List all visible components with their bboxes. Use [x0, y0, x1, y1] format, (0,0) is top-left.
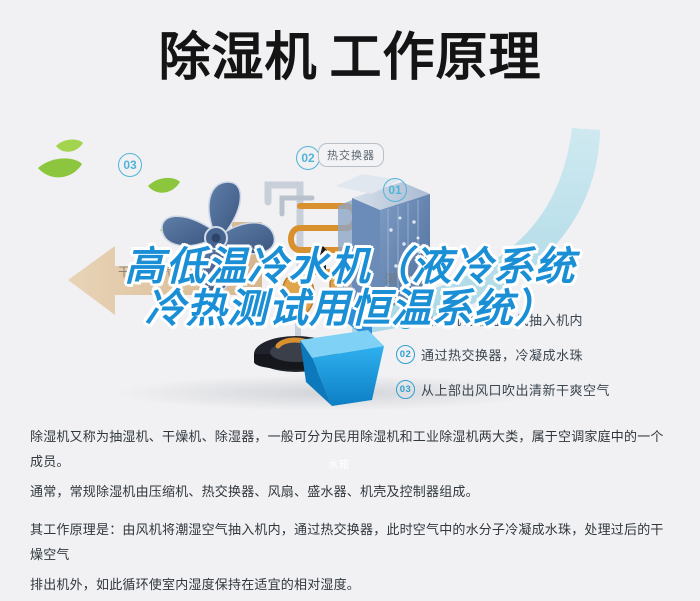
legend-text: 由风机将潮湿空气抽入机内 — [421, 310, 583, 329]
legend-text: 通过热交换器，冷凝成水珠 — [421, 345, 583, 364]
compressor-body — [282, 272, 314, 316]
leaf-icon — [56, 140, 83, 152]
dry-air-label: 干燥空气 — [118, 263, 174, 280]
body-copy: 除湿机又称为抽湿机、干燥机、除湿器，一般可分为民用除湿机和工业除湿机两大类，属于… — [30, 424, 675, 601]
badge-01: 01 — [383, 178, 407, 202]
legend-text: 从上部出风口吹出清新干爽空气 — [421, 380, 610, 399]
paragraph-1-line-2: 通常，常规除湿机由压缩机、热交换器、风扇、盛水器、机壳及控制器组成。 — [30, 479, 675, 504]
legend-item-01: 01 由风机将潮湿空气抽入机内 — [396, 310, 696, 329]
paragraph-1-line-1: 除湿机又称为抽湿机、干燥机、除湿器，一般可分为民用除湿机和工业除湿机两大类，属于… — [30, 424, 675, 475]
paragraph-2-line-2: 排出机外，如此循环使室内湿度保持在适宜的相对湿度。 — [30, 572, 675, 597]
title-part-1: 除湿机 — [158, 29, 317, 87]
fan-hub-inner — [212, 234, 221, 243]
page-root: 除湿机工作原理 — [0, 0, 700, 566]
legend-num-icon: 02 — [396, 345, 415, 364]
leaf-icon — [38, 158, 82, 177]
legend-list: 01 由风机将潮湿空气抽入机内 02 通过热交换器，冷凝成水珠 03 从上部出风… — [396, 310, 696, 415]
legend-item-03: 03 从上部出风口吹出清新干爽空气 — [396, 380, 696, 399]
page-title: 除湿机工作原理 — [0, 22, 700, 94]
title-text: 除湿机工作原理 — [158, 32, 541, 84]
leaf-icon — [148, 178, 180, 193]
legend-item-02: 02 通过热交换器，冷凝成水珠 — [396, 345, 696, 364]
legend-num-icon: 03 — [396, 380, 415, 399]
humid-air-label: 潮湿空气 — [385, 270, 441, 287]
hx-side-panel — [338, 200, 352, 302]
badge-02: 02 — [296, 146, 320, 170]
badge-03: 03 — [118, 153, 142, 177]
paragraph-spacer — [30, 508, 675, 517]
dehumidifier-diagram: 03 02 01 热交换器 干燥空气 潮湿空气 水箱 01 由风机将潮湿空气抽入… — [0, 110, 700, 410]
legend-num-icon: 01 — [396, 310, 415, 329]
title-part-2: 工作原理 — [330, 29, 542, 87]
paragraph-2-line-1: 其工作原理是：由风机将潮湿空气抽入机内，通过热交换器，此时空气中的水分子冷凝成水… — [30, 517, 675, 568]
heat-exchanger-callout: 热交换器 — [318, 143, 384, 167]
heat-exchanger-icon — [338, 182, 430, 310]
